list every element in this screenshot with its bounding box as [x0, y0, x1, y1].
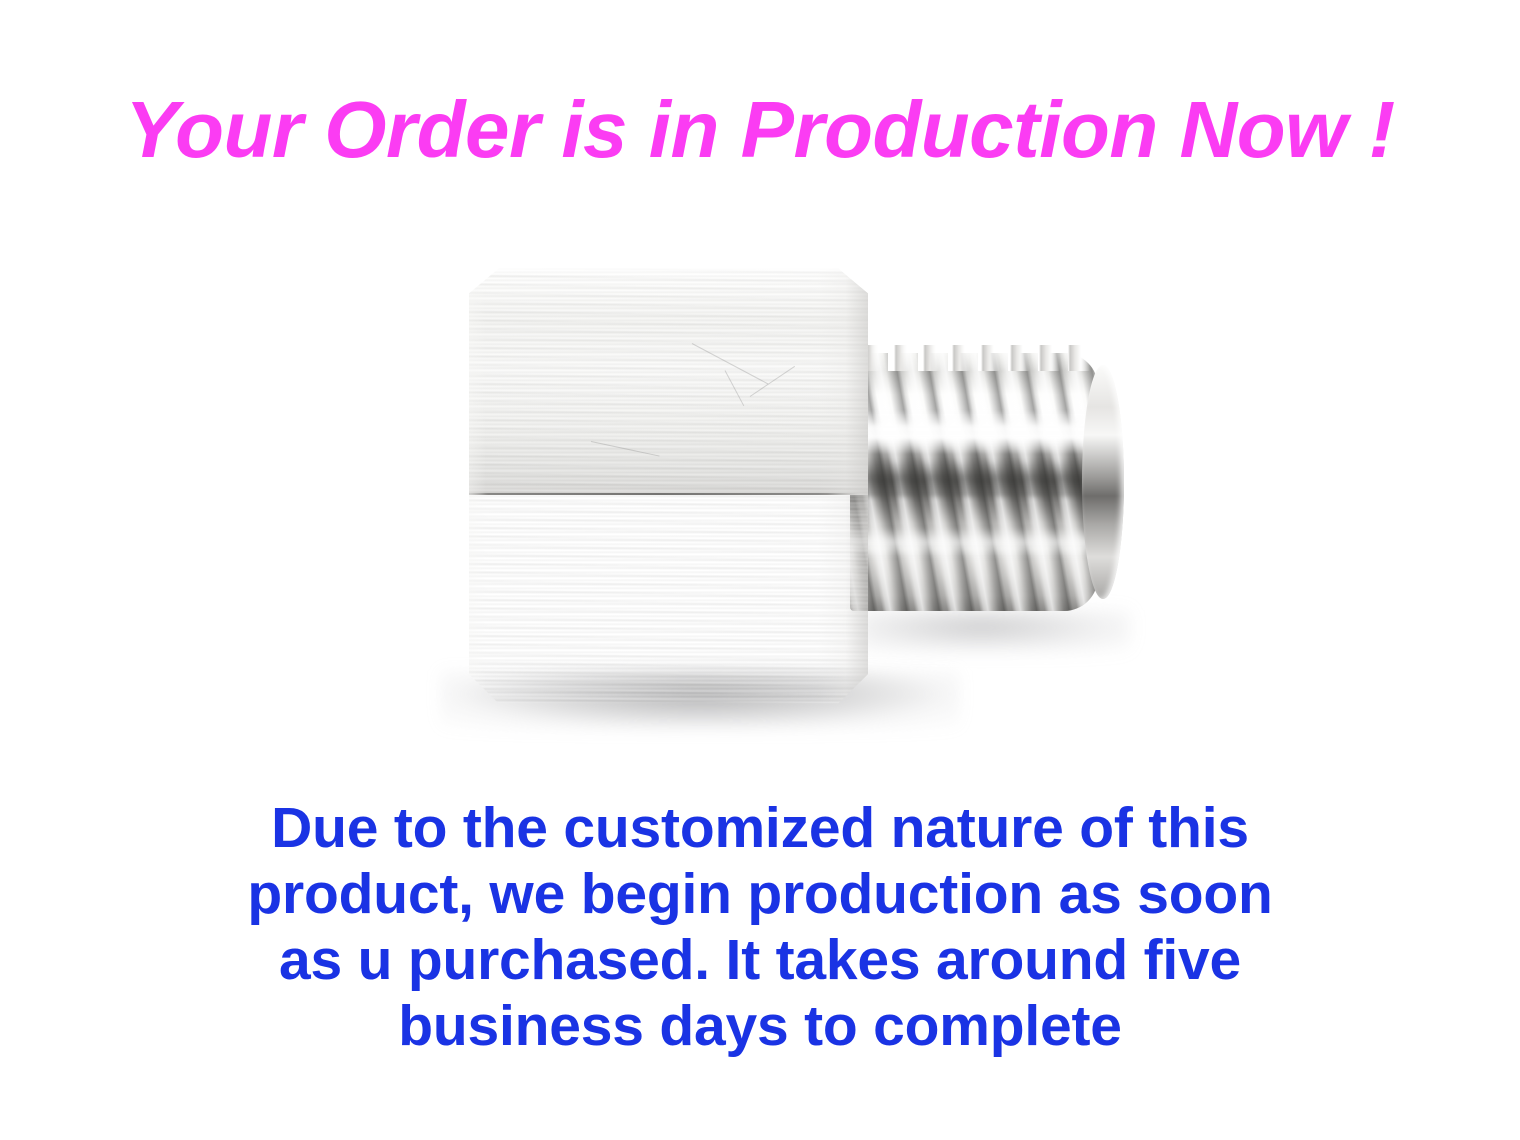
thread-end-cap: [1082, 365, 1124, 599]
page-title: Your Order is in Production Now !: [0, 88, 1520, 172]
thread-crest-silhouette: [858, 345, 1090, 371]
hex-body-faces: [448, 262, 868, 710]
thread-specular-band: [850, 410, 1098, 454]
thread-lower-highlight: [850, 528, 1098, 556]
product-photo: [380, 240, 1180, 780]
production-notice: Due to the customized nature of this pro…: [0, 795, 1520, 1059]
hex-bottom-rim-shadow: [469, 704, 847, 710]
notice-line-3: as u purchased. It takes around five: [0, 927, 1520, 993]
hex-body: [448, 262, 868, 710]
notice-line-1: Due to the customized nature of this: [0, 795, 1520, 861]
hex-top-rim-highlight: [465, 266, 851, 275]
notice-line-2: product, we begin production as soon: [0, 861, 1520, 927]
notice-line-4: business days to complete: [0, 993, 1520, 1059]
promo-image-canvas: Your Order is in Production Now !: [0, 0, 1520, 1140]
hex-left-chamfer: [448, 262, 486, 710]
thread-shadow-band: [850, 461, 1098, 497]
hex-right-chamfer: [818, 262, 868, 710]
thread-cylinder: [850, 353, 1098, 611]
hex-facet-edge: [456, 493, 859, 495]
male-threaded-nipple: [850, 335, 1120, 625]
hex-brushed-texture-fine: [448, 262, 868, 710]
